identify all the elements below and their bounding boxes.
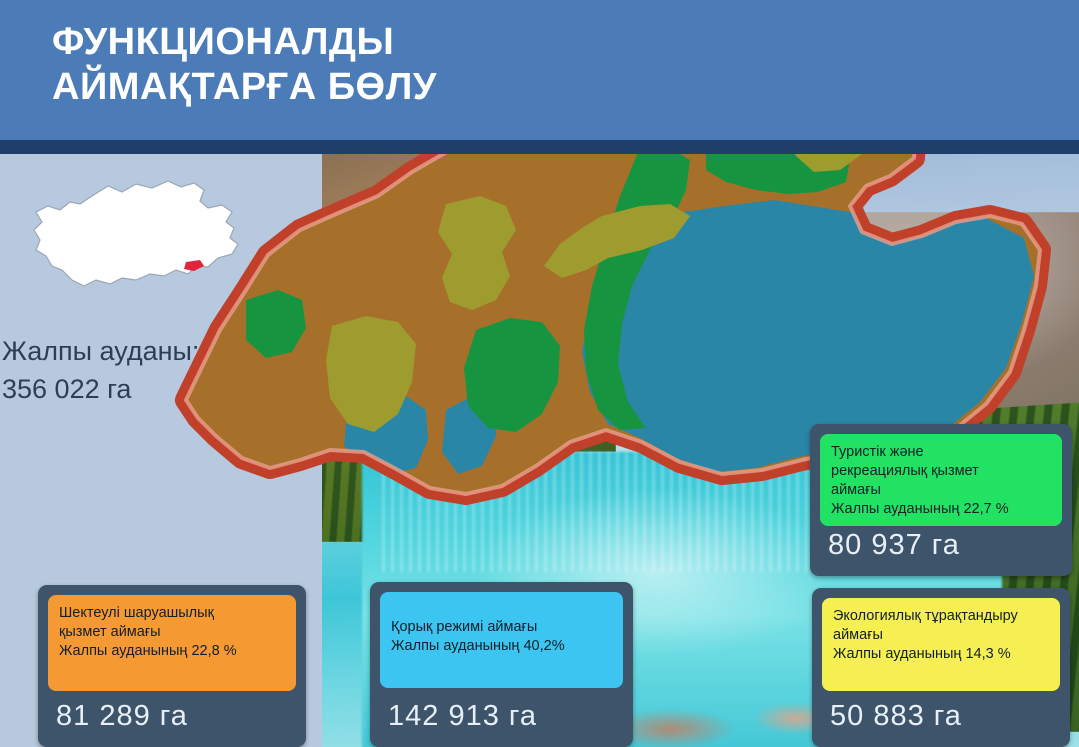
card-line: Экологиялық тұрақтандыру: [833, 607, 1049, 626]
page-title: ФУНКЦИОНАЛДЫ АЙМАҚТАРҒА БӨЛУ: [52, 20, 672, 110]
card-line: Қорық режимі аймағы: [391, 618, 612, 637]
card-tourism-recreation-body: Туристік және рекреациялық қызмет аймағы…: [820, 434, 1062, 526]
card-ecological-stabilization[interactable]: Экологиялық тұрақтандыру аймағы Жалпы ау…: [812, 588, 1070, 747]
infographic-canvas: Жалпы ауданы: 356 022 га: [0, 0, 1079, 747]
card-ecological-stabilization-body: Экологиялық тұрақтандыру аймағы Жалпы ау…: [822, 598, 1060, 691]
card-percent-line: Жалпы ауданының 40,2%: [391, 637, 612, 656]
card-percent-line: Жалпы ауданының 22,7 %: [831, 500, 1051, 519]
card-line: қызмет аймағы: [59, 623, 285, 642]
card-line: Шектеулі шаруашылық: [59, 604, 285, 623]
card-restricted-economic-value: 81 289 га: [56, 700, 188, 733]
page-title-line-2: АЙМАҚТАРҒА БӨЛУ: [52, 65, 672, 110]
card-reserve-regime[interactable]: Қорық режимі аймағы Жалпы ауданының 40,2…: [370, 582, 633, 747]
card-restricted-economic[interactable]: Шектеулі шаруашылық қызмет аймағы Жалпы …: [38, 585, 306, 747]
card-restricted-economic-body: Шектеулі шаруашылық қызмет аймағы Жалпы …: [48, 595, 296, 691]
header-bar: ФУНКЦИОНАЛДЫ АЙМАҚТАРҒА БӨЛУ: [0, 0, 1079, 140]
total-area-value: 356 022 га: [2, 370, 302, 408]
card-line: аймағы: [831, 481, 1051, 500]
card-line: Туристік және: [831, 443, 1051, 462]
card-line: аймағы: [833, 626, 1049, 645]
card-tourism-recreation-value: 80 937 га: [828, 529, 960, 562]
total-area-block: Жалпы ауданы: 356 022 га: [2, 332, 302, 408]
total-area-label: Жалпы ауданы:: [2, 332, 302, 370]
card-tourism-recreation[interactable]: Туристік және рекреациялық қызмет аймағы…: [810, 424, 1072, 576]
card-percent-line: Жалпы ауданының 22,8 %: [59, 642, 285, 661]
header-accent-strip: [0, 140, 1079, 154]
page-title-line-1: ФУНКЦИОНАЛДЫ: [52, 20, 672, 65]
card-reserve-regime-body: Қорық режимі аймағы Жалпы ауданының 40,2…: [380, 592, 623, 688]
card-percent-line: Жалпы ауданының 14,3 %: [833, 645, 1049, 664]
card-line: рекреациялық қызмет: [831, 462, 1051, 481]
card-reserve-regime-value: 142 913 га: [388, 700, 537, 733]
kazakhstan-outline-map: [18, 170, 280, 310]
card-ecological-stabilization-value: 50 883 га: [830, 700, 962, 733]
